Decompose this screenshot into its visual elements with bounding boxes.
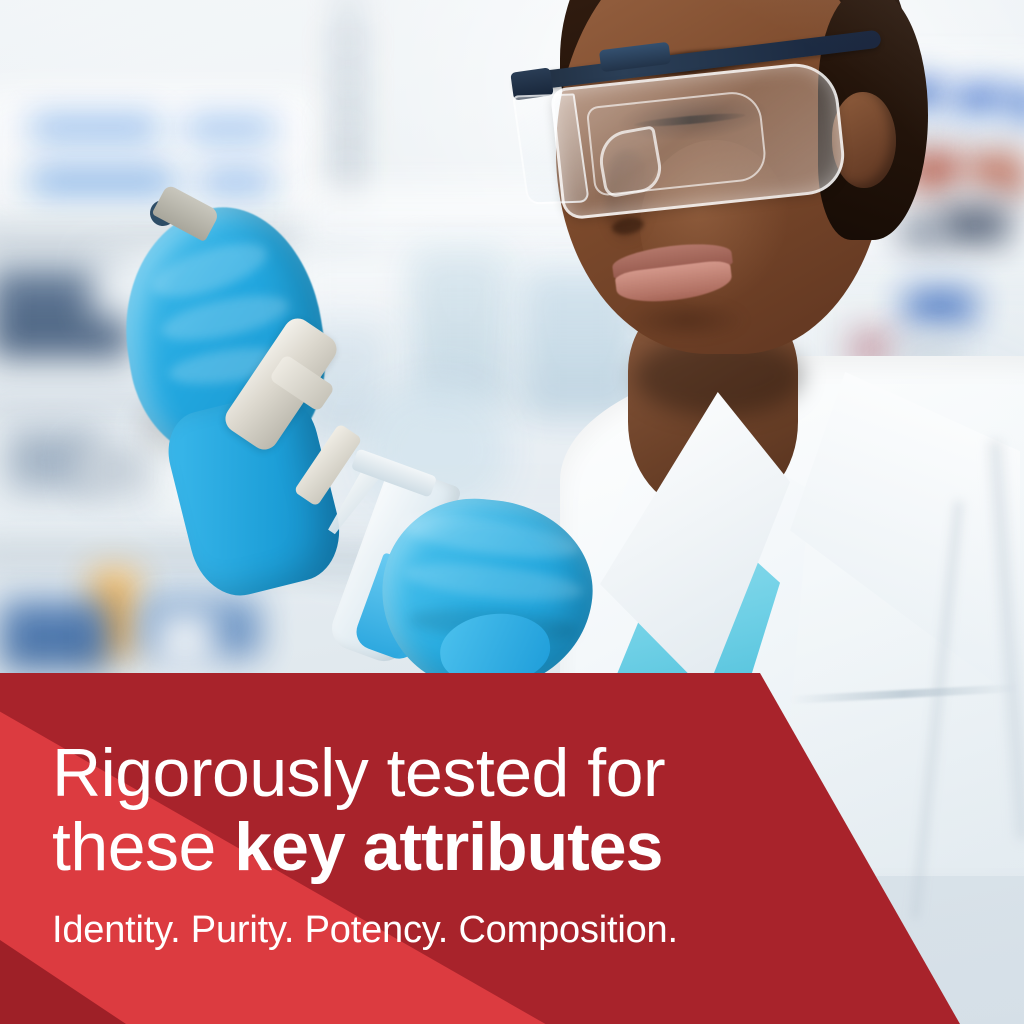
dark-instrument	[940, 208, 1010, 242]
subline: Identity. Purity. Potency. Composition.	[52, 884, 852, 952]
flask-cap-blue	[955, 86, 1001, 120]
lab-stand-rung	[330, 80, 366, 87]
shelf-label-blue	[30, 120, 160, 136]
storage-box-grey	[78, 445, 148, 495]
lab-stand-rung	[330, 160, 366, 167]
blue-label-panel	[905, 290, 975, 324]
storage-box-blue	[0, 600, 110, 670]
headline-line-1: Rigorously tested for	[52, 736, 852, 810]
chin-shadow	[626, 300, 746, 340]
lab-stand-rung	[330, 40, 366, 47]
headline-line-2-bold: key attributes	[234, 809, 662, 885]
shelf-label-blue	[30, 172, 175, 190]
lab-stand-rung	[330, 120, 366, 127]
headline-line-2-light: these	[52, 809, 234, 885]
dark-instrument	[900, 222, 940, 244]
storage-box-white	[155, 610, 215, 670]
headline-line-2: these key attributes	[52, 810, 852, 884]
banner-image: Rigorously tested for these key attribut…	[0, 0, 1024, 1024]
banner-text-block: Rigorously tested for these key attribut…	[52, 736, 852, 952]
shelf-label-blue	[185, 122, 275, 136]
shelf-label-blue	[200, 174, 272, 190]
